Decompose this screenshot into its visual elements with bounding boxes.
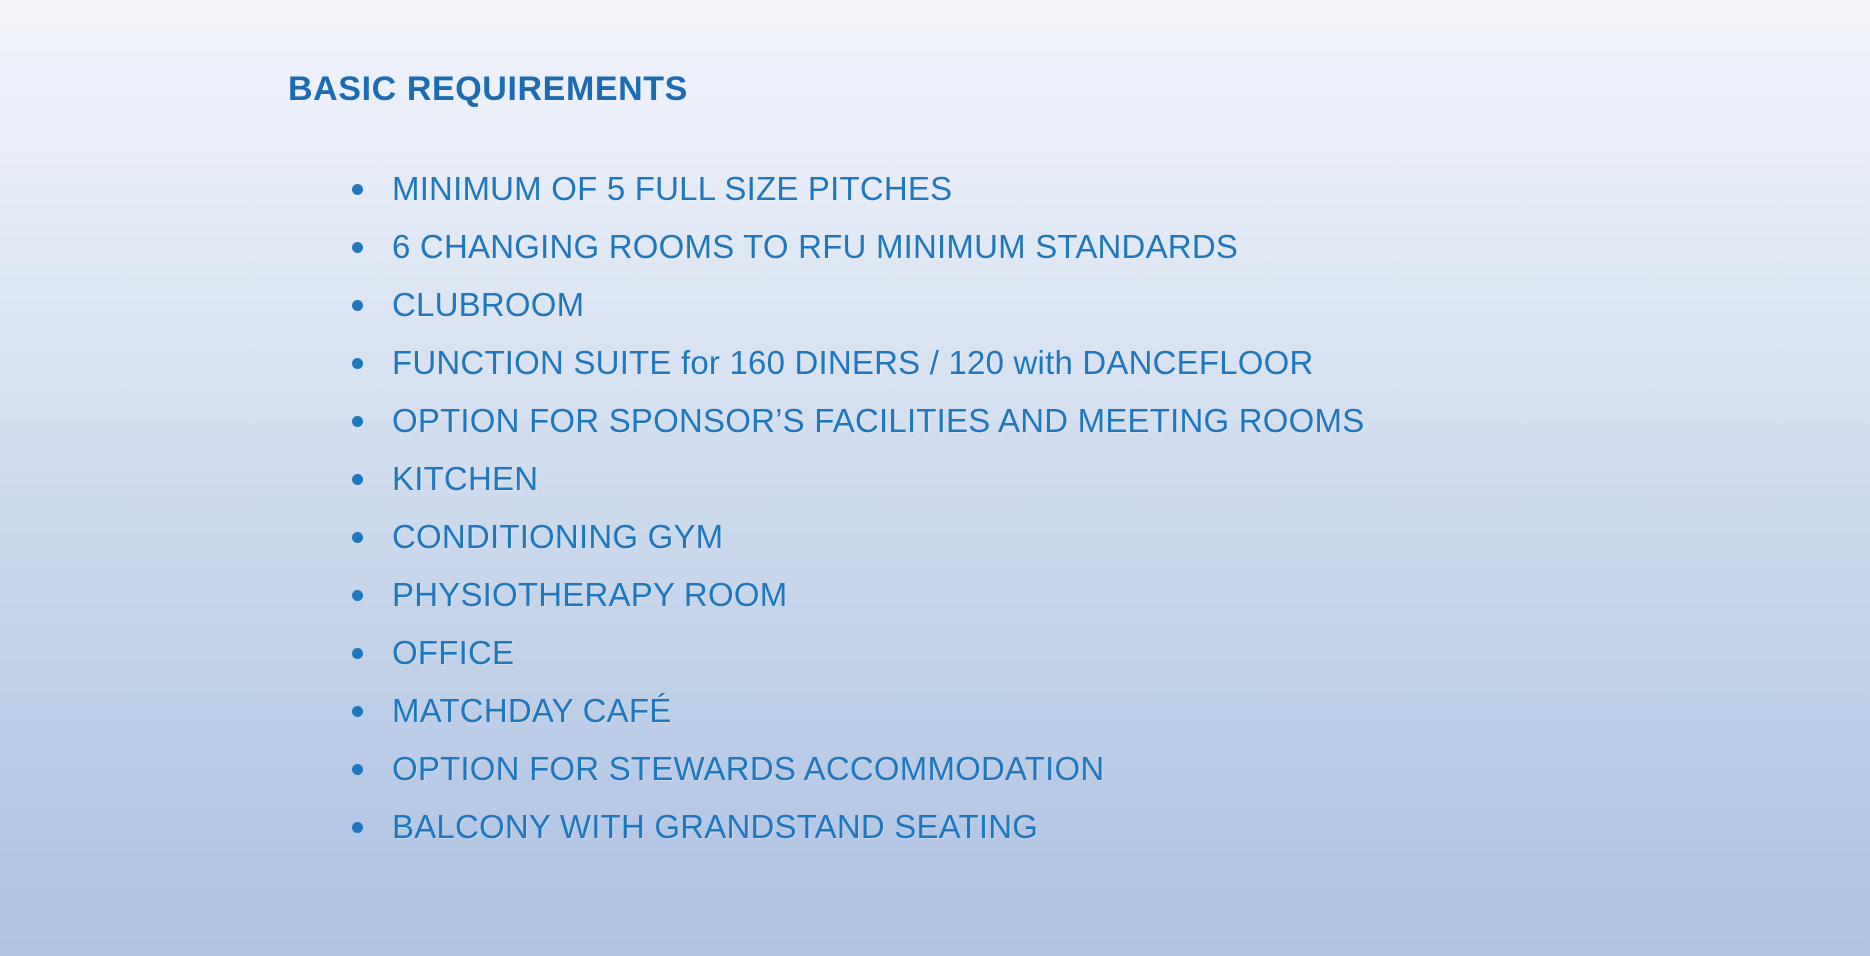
list-item: OPTION FOR SPONSOR’S FACILITIES AND MEET… — [340, 392, 1820, 450]
list-item-label: KITCHEN — [392, 450, 538, 508]
bullet-dot-icon — [352, 242, 363, 253]
bullet-dot-icon — [352, 822, 363, 833]
bullet-dot-icon — [352, 416, 363, 427]
requirements-list: MINIMUM OF 5 FULL SIZE PITCHES 6 CHANGIN… — [340, 160, 1820, 856]
list-item: PHYSIOTHERAPY ROOM — [340, 566, 1820, 624]
list-item-label: OFFICE — [392, 624, 514, 682]
list-item: CONDITIONING GYM — [340, 508, 1820, 566]
bullet-dot-icon — [352, 764, 363, 775]
list-item: MINIMUM OF 5 FULL SIZE PITCHES — [340, 160, 1820, 218]
list-item-label: OPTION FOR STEWARDS ACCOMMODATION — [392, 740, 1104, 798]
bullet-dot-icon — [352, 358, 363, 369]
list-item-label: FUNCTION SUITE for 160 DINERS / 120 with… — [392, 334, 1314, 392]
list-item: FUNCTION SUITE for 160 DINERS / 120 with… — [340, 334, 1820, 392]
list-item-label: MINIMUM OF 5 FULL SIZE PITCHES — [392, 160, 952, 218]
list-item: BALCONY WITH GRANDSTAND SEATING — [340, 798, 1820, 856]
bullet-dot-icon — [352, 648, 363, 659]
bullet-dot-icon — [352, 300, 363, 311]
list-item: KITCHEN — [340, 450, 1820, 508]
list-item-label: 6 CHANGING ROOMS TO RFU MINIMUM STANDARD… — [392, 218, 1238, 276]
list-item-label: CONDITIONING GYM — [392, 508, 723, 566]
bullet-dot-icon — [352, 474, 363, 485]
list-item-label: OPTION FOR SPONSOR’S FACILITIES AND MEET… — [392, 392, 1364, 450]
bullet-dot-icon — [352, 532, 363, 543]
list-item: CLUBROOM — [340, 276, 1820, 334]
list-item: OPTION FOR STEWARDS ACCOMMODATION — [340, 740, 1820, 798]
list-item: 6 CHANGING ROOMS TO RFU MINIMUM STANDARD… — [340, 218, 1820, 276]
list-item: MATCHDAY CAFÉ — [340, 682, 1820, 740]
bullet-dot-icon — [352, 706, 363, 717]
list-item: OFFICE — [340, 624, 1820, 682]
bullet-dot-icon — [352, 184, 363, 195]
list-item-label: MATCHDAY CAFÉ — [392, 682, 671, 740]
list-item-label: CLUBROOM — [392, 276, 584, 334]
page-title: BASIC REQUIREMENTS — [288, 70, 688, 109]
bullet-dot-icon — [352, 590, 363, 601]
slide-canvas: BASIC REQUIREMENTS MINIMUM OF 5 FULL SIZ… — [0, 0, 1870, 956]
list-item-label: PHYSIOTHERAPY ROOM — [392, 566, 787, 624]
list-item-label: BALCONY WITH GRANDSTAND SEATING — [392, 798, 1038, 856]
